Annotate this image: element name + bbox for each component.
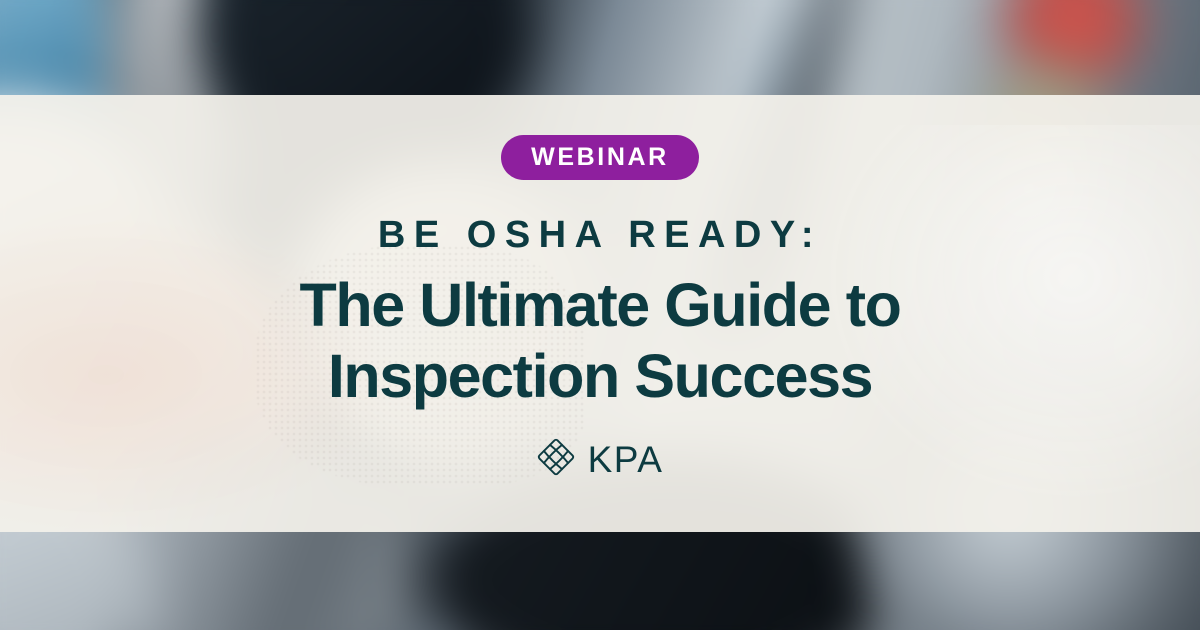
banner-content: WEBINAR BE OSHA READY: The Ultimate Guid… <box>0 95 1200 532</box>
webinar-badge: WEBINAR <box>501 135 699 180</box>
banner-canvas: WEBINAR BE OSHA READY: The Ultimate Guid… <box>0 0 1200 630</box>
kpa-wordmark: KPA <box>588 441 664 478</box>
headline: The Ultimate Guide to Inspection Success <box>300 270 901 412</box>
kpa-diamond-lattice-icon <box>537 438 575 481</box>
headline-line-1: The Ultimate Guide to <box>300 270 901 341</box>
headline-line-2: Inspection Success <box>300 341 901 412</box>
eyebrow-text: BE OSHA READY: <box>378 216 822 254</box>
kpa-logo: KPA <box>537 438 664 481</box>
